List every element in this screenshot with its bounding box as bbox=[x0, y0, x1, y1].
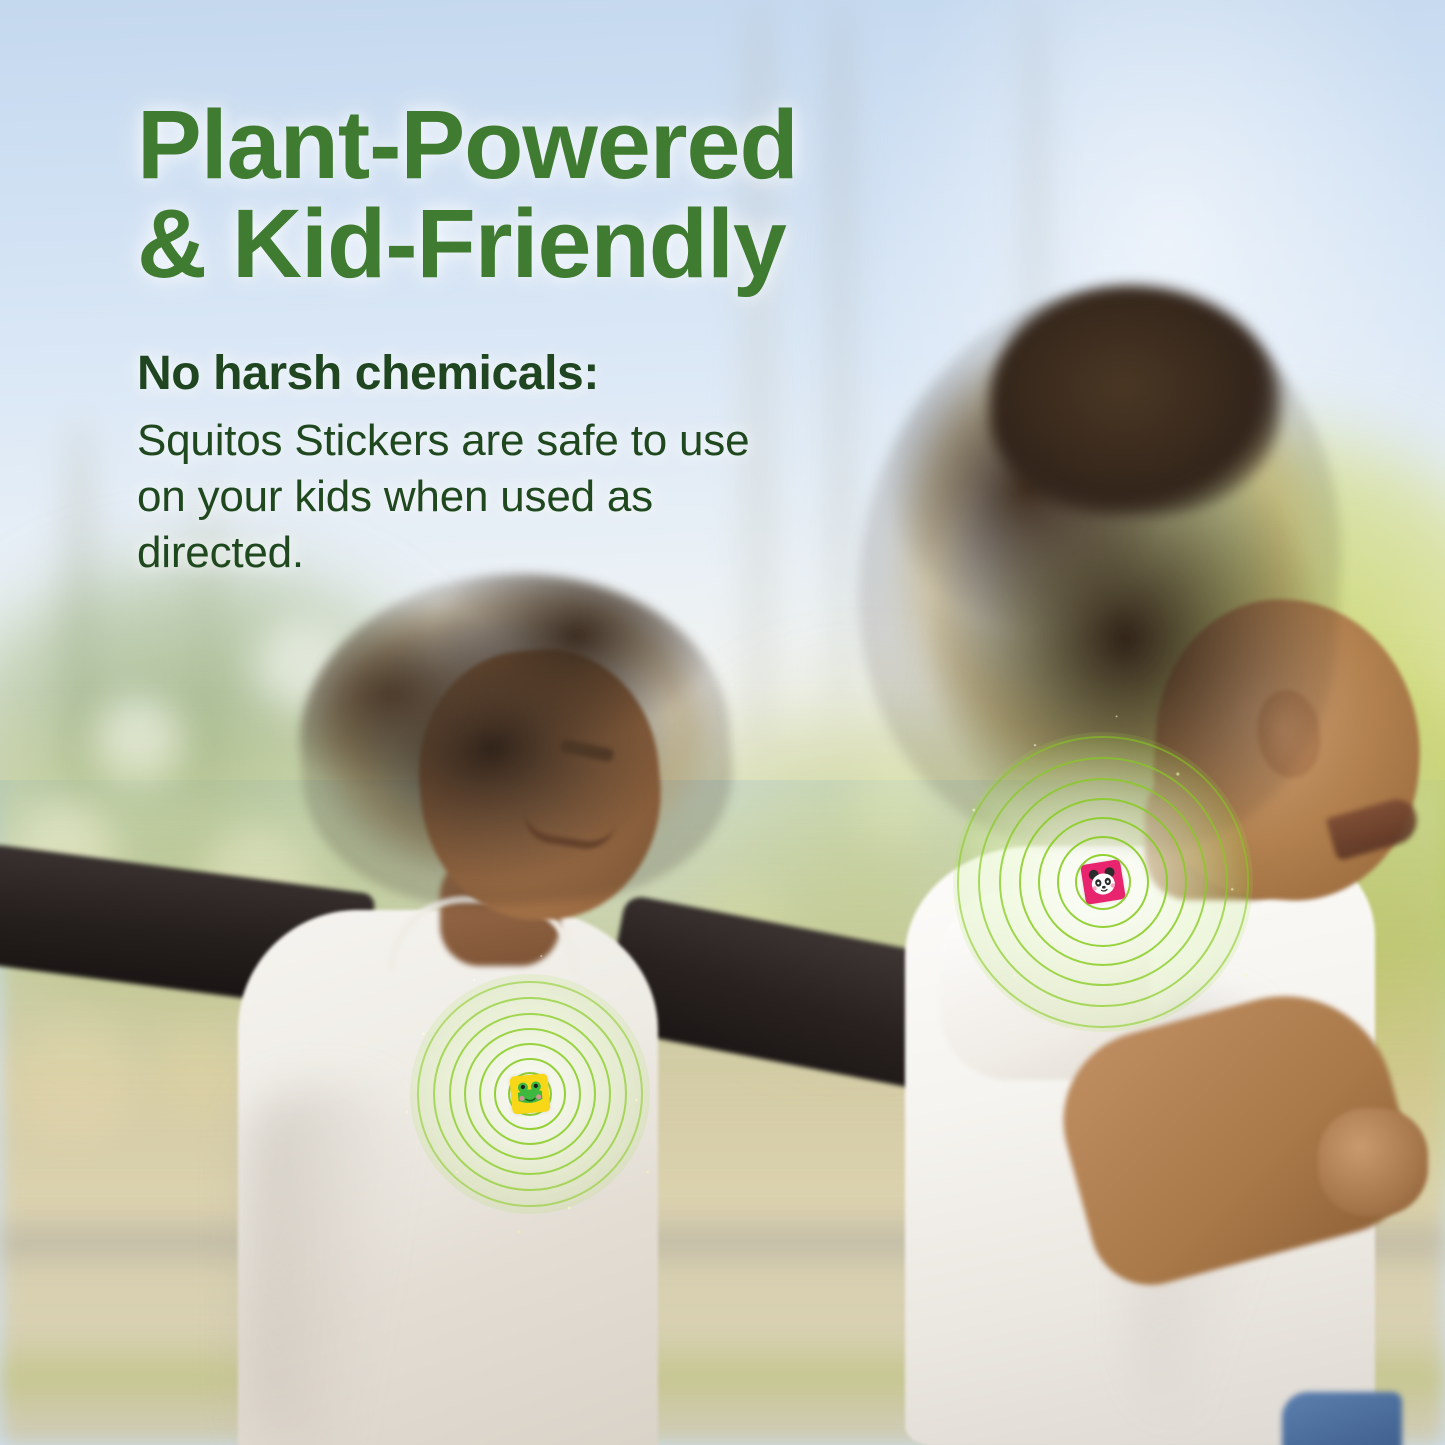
boy-tshirt-shadow bbox=[248, 1090, 418, 1445]
copy-block: Plant-Powered & Kid-Friendly No harsh ch… bbox=[137, 96, 967, 581]
page-title: Plant-Powered & Kid-Friendly bbox=[137, 96, 967, 294]
subheading: No harsh chemicals: bbox=[137, 346, 967, 401]
headline-line-2: & Kid-Friendly bbox=[137, 195, 967, 294]
body-text: Squitos Stickers are safe to use on your… bbox=[137, 413, 787, 581]
headline-line-1: Plant-Powered bbox=[137, 90, 798, 199]
girl-hair-puff bbox=[990, 286, 1280, 516]
marketing-image: Plant-Powered & Kid-Friendly No harsh ch… bbox=[0, 0, 1445, 1445]
girl-jeans bbox=[1282, 1392, 1402, 1445]
girl-fist bbox=[1318, 1108, 1428, 1216]
